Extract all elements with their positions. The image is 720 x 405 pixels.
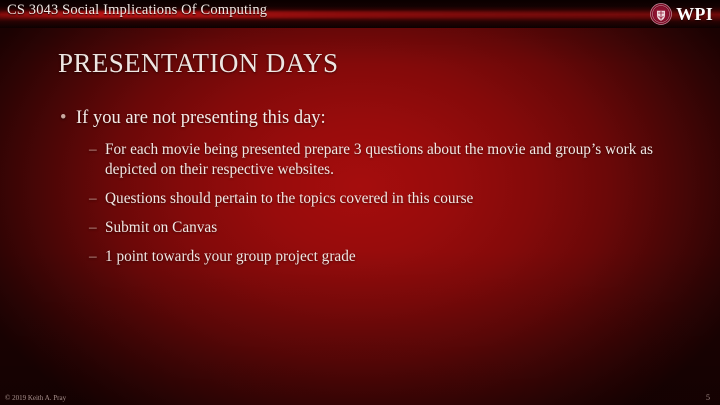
bullet-dot-marker: •	[60, 106, 66, 130]
footer-copyright: © 2019 Keith A. Pray	[5, 394, 66, 402]
bullet-level1: • If you are not presenting this day:	[58, 106, 678, 130]
bullet-text: For each movie being presented prepare 3…	[105, 141, 653, 178]
wpi-seal-icon	[650, 3, 672, 25]
bullet-level2: – 1 point towards your group project gra…	[89, 247, 678, 267]
course-title: CS 3043 Social Implications Of Computing	[7, 2, 267, 19]
bullet-dash-marker: –	[89, 140, 97, 160]
bullet-text: Questions should pertain to the topics c…	[105, 190, 473, 207]
bullet-dash-marker: –	[89, 247, 97, 267]
bullet-text: 1 point towards your group project grade	[105, 248, 356, 265]
bullet-dash-marker: –	[89, 218, 97, 238]
slide-page-number: 5	[706, 393, 710, 402]
bullet-level2: – Submit on Canvas	[89, 218, 678, 238]
bullet-level2: – For each movie being presented prepare…	[89, 140, 678, 180]
bullet-level2: – Questions should pertain to the topics…	[89, 189, 678, 209]
presentation-slide: CS 3043 Social Implications Of Computing…	[0, 0, 720, 405]
bullet-dash-marker: –	[89, 189, 97, 209]
bullet-text: Submit on Canvas	[105, 219, 217, 236]
slide-body: • If you are not presenting this day: – …	[58, 106, 678, 275]
wpi-wordmark: WPI	[676, 5, 713, 23]
wpi-logo: WPI	[650, 1, 713, 27]
bullet-text: If you are not presenting this day:	[76, 108, 326, 128]
slide-title: PRESENTATION DAYS	[58, 48, 338, 79]
slide-header-bar: CS 3043 Social Implications Of Computing…	[0, 0, 720, 28]
